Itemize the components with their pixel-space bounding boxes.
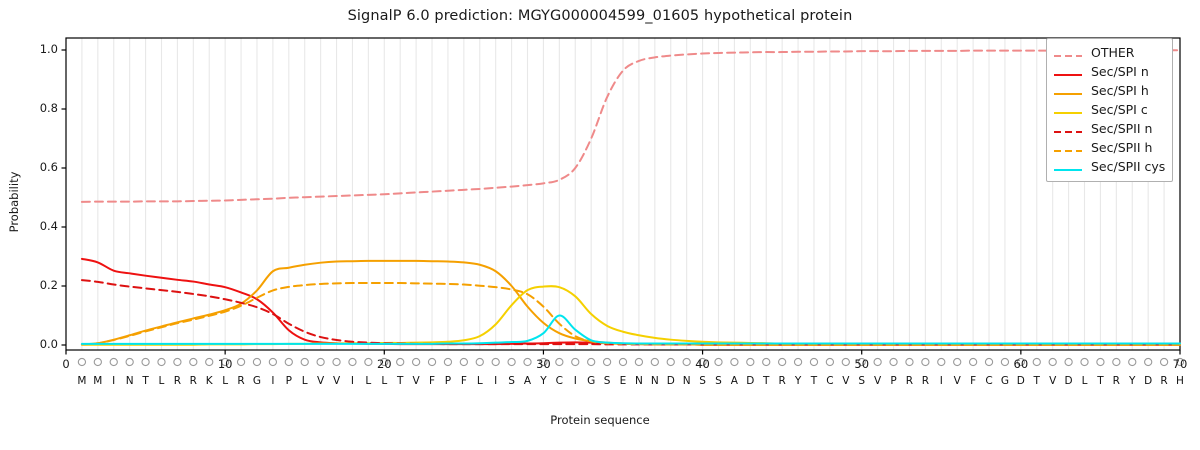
residue-marker [126,358,133,365]
residue-marker [985,358,992,365]
residue-marker [285,358,292,365]
residue-marker [428,358,435,365]
series-line-sec-spii-n [82,280,1180,344]
residue-marker [158,358,165,365]
series-group [82,50,1180,344]
residue-marker [413,358,420,365]
y-axis-ticks [62,50,67,345]
legend-item-sec-spii-cys[interactable]: Sec/SPII cys [1053,157,1165,176]
residue-marker [667,358,674,365]
residue-marker [317,358,324,365]
sequence-residue: H [1170,375,1190,387]
residue-marker [269,358,276,365]
residue-marker [1081,358,1088,365]
residue-marker [476,358,483,365]
legend-item-other[interactable]: OTHER [1053,43,1165,62]
residue-marker [492,358,499,365]
series-line-sec-spii-h [82,283,1180,345]
legend-item-sec-spi-n[interactable]: Sec/SPI n [1053,62,1165,81]
x-axis-ticks [66,350,1180,355]
series-line-sec-spi-n [82,259,1180,345]
y-tick-label: 0.4 [10,219,58,233]
x-tick-label: 10 [200,357,250,371]
residue-marker [826,358,833,365]
residue-marker [588,358,595,365]
series-line-sec-spii-cys [82,315,1180,343]
residue-marker [174,358,181,365]
residue-marker [890,358,897,365]
residue-marker [253,358,260,365]
residue-marker [731,358,738,365]
residue-marker [572,358,579,365]
residue-marker [763,358,770,365]
residue-marker [635,358,642,365]
residue-marker [110,358,117,365]
legend-item-sec-spii-n[interactable]: Sec/SPII n [1053,119,1165,138]
residue-marker [301,358,308,365]
legend-item-sec-spi-c[interactable]: Sec/SPI c [1053,100,1165,119]
legend-swatch-icon [1053,123,1083,135]
residue-marker [333,358,340,365]
legend-label: Sec/SPII cys [1091,157,1165,176]
residue-marker [1113,358,1120,365]
residue-marker [142,358,149,365]
x-tick-label: 0 [41,357,91,371]
residue-marker [922,358,929,365]
legend-item-sec-spi-h[interactable]: Sec/SPI h [1053,81,1165,100]
residue-marker [954,358,961,365]
legend: OTHERSec/SPI nSec/SPI hSec/SPI cSec/SPII… [1046,38,1173,182]
legend-swatch-icon [1053,142,1083,154]
x-tick-label: 60 [996,357,1046,371]
residue-marker [1049,358,1056,365]
residue-marker [190,358,197,365]
x-tick-label: 50 [837,357,887,371]
residue-marker [460,358,467,365]
x-tick-label: 70 [1155,357,1200,371]
legend-label: Sec/SPII n [1091,119,1152,138]
y-tick-label: 1.0 [10,42,58,56]
residue-marker [938,358,945,365]
x-tick-label: 30 [518,357,568,371]
legend-label: Sec/SPII h [1091,138,1152,157]
legend-item-sec-spii-h[interactable]: Sec/SPII h [1053,138,1165,157]
legend-label: Sec/SPI c [1091,100,1148,119]
legend-swatch-icon [1053,47,1083,59]
legend-swatch-icon [1053,85,1083,97]
x-tick-label: 20 [359,357,409,371]
series-line-other [82,50,1180,202]
legend-swatch-icon [1053,66,1083,78]
y-tick-label: 0.0 [10,337,58,351]
y-tick-label: 0.6 [10,160,58,174]
residue-marker [1065,358,1072,365]
residue-marker [747,358,754,365]
residue-marker [1097,358,1104,365]
legend-label: OTHER [1091,43,1134,62]
residue-marker [779,358,786,365]
signalp-plot-figure: SignalP 6.0 prediction: MGYG000004599_01… [0,0,1200,450]
residue-marker [970,358,977,365]
residue-marker [508,358,515,365]
x-tick-label: 40 [678,357,728,371]
residue-marker [94,358,101,365]
residue-marker [794,358,801,365]
legend-label: Sec/SPI h [1091,81,1149,100]
y-tick-label: 0.2 [10,278,58,292]
residue-marker [444,358,451,365]
residue-marker [1129,358,1136,365]
residue-marker [651,358,658,365]
y-tick-label: 0.8 [10,101,58,115]
legend-label: Sec/SPI n [1091,62,1149,81]
residue-marker [906,358,913,365]
residue-marker [1145,358,1152,365]
residue-marker [349,358,356,365]
legend-swatch-icon [1053,161,1083,173]
legend-swatch-icon [1053,104,1083,116]
residue-marker [603,358,610,365]
residue-marker [810,358,817,365]
residue-marker [619,358,626,365]
